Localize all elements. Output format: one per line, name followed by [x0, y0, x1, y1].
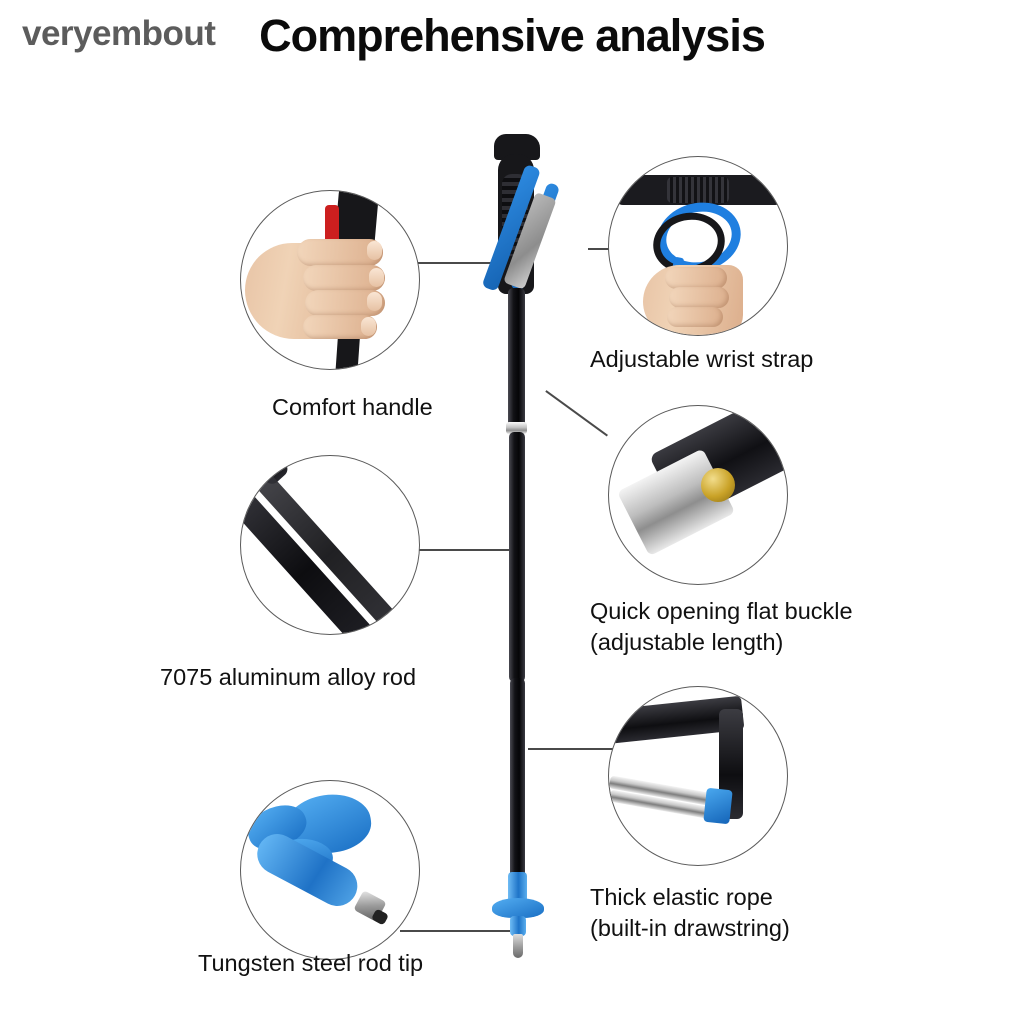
- product-center-image: [470, 130, 600, 970]
- callout-rod-tip[interactable]: [240, 780, 420, 960]
- callout-wrist-strap[interactable]: [608, 156, 788, 336]
- callout-elastic-rope[interactable]: [608, 686, 788, 866]
- hand-grip-icon: [241, 191, 419, 369]
- callout-label-wrist-strap: Adjustable wrist strap: [590, 344, 910, 375]
- callout-label-elastic-rope: Thick elastic rope (built-in drawstring): [590, 882, 910, 943]
- callout-label-aluminum-rod: 7075 aluminum alloy rod: [160, 662, 500, 693]
- wrist-strap-icon: [609, 157, 787, 335]
- elastic-rope-icon: [609, 687, 787, 865]
- pole-tip-collar: [510, 916, 526, 936]
- aluminum-rod-icon: [241, 456, 419, 634]
- pole-shaft-lower: [510, 678, 525, 878]
- rod-tip-icon: [241, 781, 419, 959]
- callout-label-flat-buckle: Quick opening flat buckle (adjustable le…: [590, 596, 930, 657]
- pole-shaft-mid: [509, 432, 525, 682]
- flat-buckle-icon: [609, 406, 787, 584]
- callout-flat-buckle[interactable]: [608, 405, 788, 585]
- callout-label-rod-tip: Tungsten steel rod tip: [198, 948, 518, 979]
- pole-basket: [492, 898, 544, 918]
- callout-aluminum-rod[interactable]: [240, 455, 420, 635]
- watermark: veryembout: [22, 14, 215, 54]
- infographic-canvas: Comprehensive analysis veryembout: [0, 0, 1024, 1024]
- callout-comfort-handle[interactable]: [240, 190, 420, 370]
- callout-label-comfort-handle: Comfort handle: [272, 392, 532, 423]
